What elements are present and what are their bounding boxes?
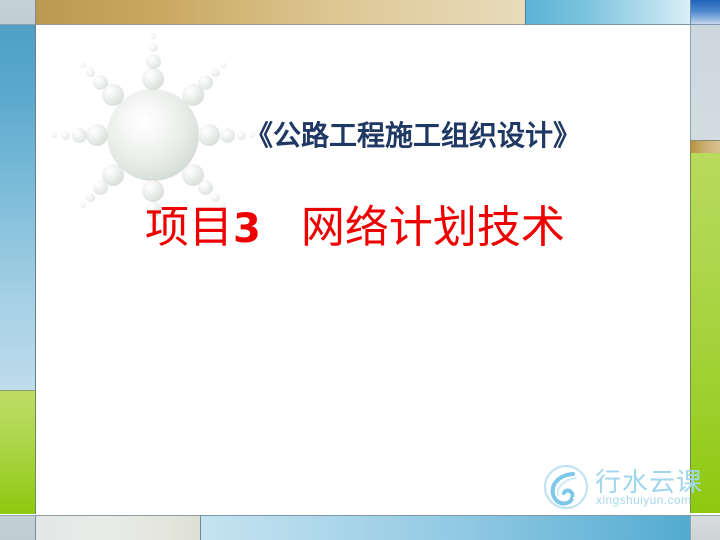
bottom-left-gray-block [0,515,36,540]
top-left-gray-block [0,0,35,25]
sun-bubble [51,132,56,137]
top-blue-band [525,0,690,25]
bottom-gray-band [36,515,200,540]
sun-bubble [150,33,155,38]
top-gold-band [35,0,526,25]
presentation-slide: 《公路工程施工组织设计》 项目3网络计划技术 行水云课 xingshuiyun.… [0,0,720,540]
sun-burst-icon [66,48,240,222]
title-number: 3 [233,206,261,252]
sun-bubble [72,128,87,143]
right-green-block [690,153,720,513]
right-gold-band [690,140,720,154]
sun-bubble [211,193,220,202]
top-right-deep-blue-block [690,0,720,25]
sun-bubble [182,84,204,106]
sun-bubble [198,124,220,146]
sun-bubble [93,180,108,195]
sun-bubble [182,164,204,186]
sun-bubble [149,43,158,52]
bottom-right-gray-block [690,515,720,540]
right-gray-block [690,25,720,140]
title-main: 网络计划技术 [301,202,565,253]
sun-bubble [80,202,85,207]
sun-bubble [102,164,124,186]
sun-bubble [146,54,161,69]
sun-bubble [220,62,225,67]
sun-bubble [102,84,124,106]
page-subtitle: 《公路工程施工组织设计》 [245,114,581,154]
sun-bubble [86,68,95,77]
watermark-brand: 行水云课 [595,462,703,499]
page-title: 项目3网络计划技术 [145,203,565,254]
bottom-blue-band [200,515,691,540]
watermark-url: xingshuiyun.com [596,493,691,507]
watermark: 行水云课 xingshuiyun.com [543,462,693,514]
sun-bubble [80,62,85,67]
wave-swirl-icon [543,464,589,510]
sun-bubble [61,131,70,140]
sun-bubble [86,124,108,146]
sun-bubble [86,193,95,202]
sun-bubble [198,180,213,195]
left-blue-strip [0,25,36,390]
sun-bubble [211,68,220,77]
sun-bubble [142,180,164,202]
sun-bubble [220,128,235,143]
sun-core-sphere [107,89,199,181]
left-green-block [0,390,36,514]
title-prefix: 项目 [145,202,233,253]
sun-bubble [198,75,213,90]
sun-bubble [142,68,164,90]
sun-bubble [93,75,108,90]
